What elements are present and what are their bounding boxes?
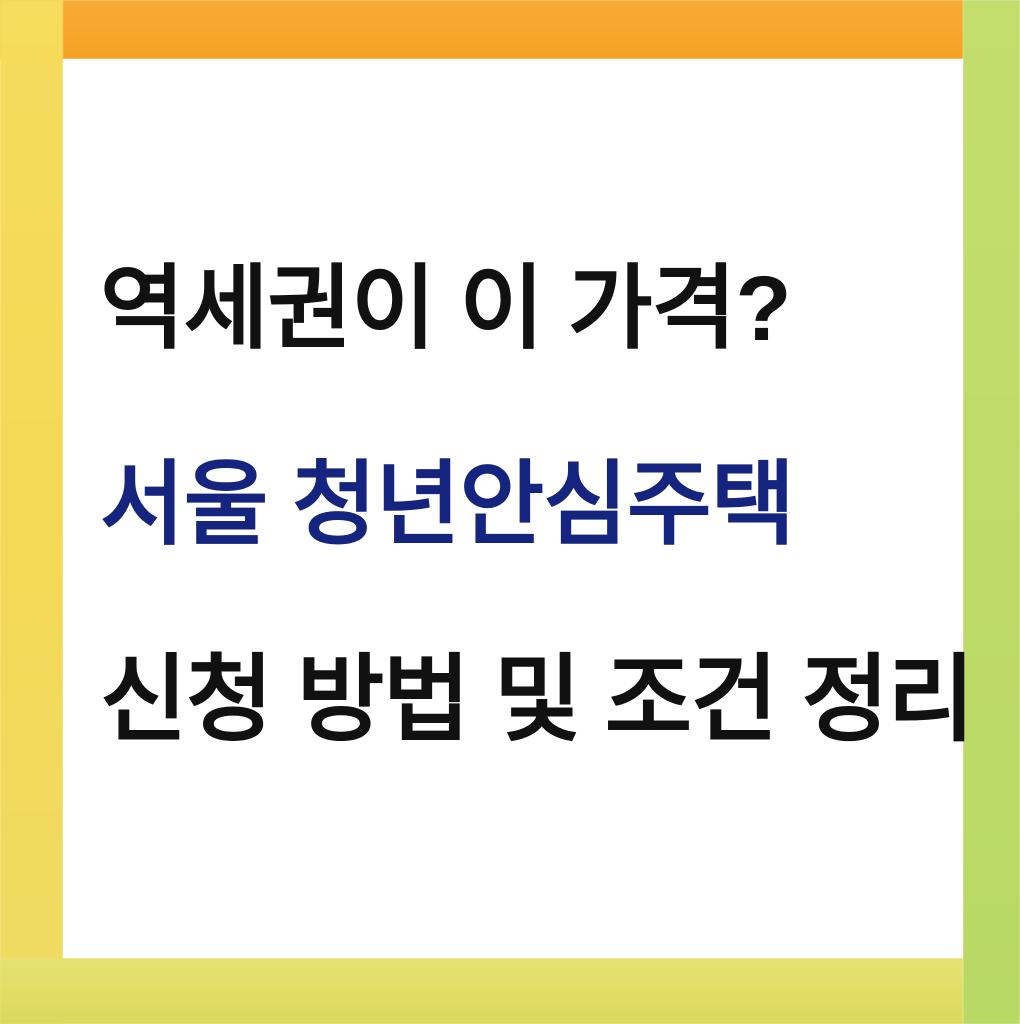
content-card: 역세권이 이 가격? 서울 청년안심주택 신청 방법 및 조건 정리 bbox=[63, 59, 963, 958]
top-accent-band bbox=[0, 0, 963, 59]
left-accent-strip bbox=[0, 0, 63, 1024]
headline-line-1: 역세권이 이 가격? bbox=[100, 263, 963, 355]
thumbnail-poster: 역세권이 이 가격? 서울 청년안심주택 신청 방법 및 조건 정리 bbox=[0, 0, 1020, 1024]
right-accent-strip bbox=[963, 0, 1020, 1024]
bottom-accent-band bbox=[0, 958, 963, 1024]
headline-line-3: 신청 방법 및 조건 정리 bbox=[100, 653, 963, 748]
headline-line-2: 서울 청년안심주택 bbox=[100, 459, 963, 551]
headline-block: 역세권이 이 가격? 서울 청년안심주택 신청 방법 및 조건 정리 bbox=[100, 263, 963, 748]
